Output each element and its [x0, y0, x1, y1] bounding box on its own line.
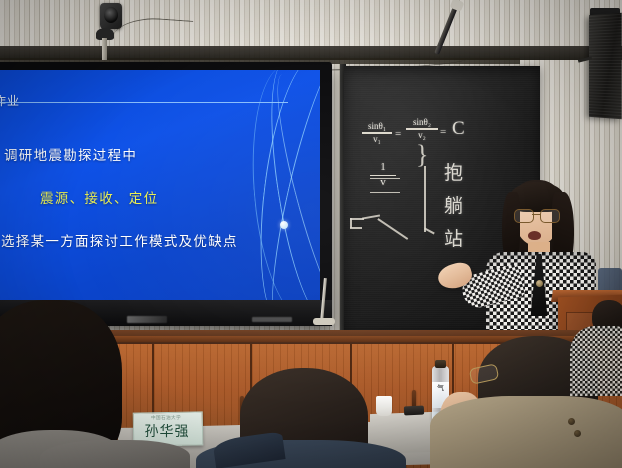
slide-divider-rule [0, 102, 288, 103]
chalk-equals-2: = [440, 126, 446, 138]
chalk-equals-1: = [395, 128, 401, 140]
chalk-fraction-3: 1 v [370, 162, 396, 188]
slide-text-line-1: 调研地震勘探过程中 [4, 144, 137, 164]
chalk-brace: } [416, 140, 428, 170]
slide-decor-curve [264, 70, 320, 306]
slide-decor-dot [280, 221, 288, 229]
glasses-lens-left [514, 209, 534, 223]
projector-screen-frame: 作业 调研地震勘探过程中 震源、接收、定位 选择某一方面探讨工作模式及优缺点 [0, 62, 332, 326]
wall-loudspeaker-icon [589, 13, 622, 119]
smartphone [404, 405, 424, 415]
chalk-vertical-stroke [424, 166, 426, 232]
slide-text-line-2: 震源、接收、定位 [40, 187, 158, 207]
slide-text-line-3: 选择某一方面探讨工作模式及优缺点 [1, 230, 238, 250]
screen-badge [252, 317, 292, 322]
glasses-lens-right [540, 209, 560, 223]
bottle-label-text: 气 [434, 384, 447, 392]
chalk-diagram-bottom [350, 227, 362, 229]
slide-decor-curve [248, 70, 320, 306]
chalk-constant: C [452, 118, 465, 140]
projector-screen: 作业 调研地震勘探过程中 震源、接收、定位 选择某一方面探讨工作模式及优缺点 [0, 70, 320, 306]
audience-far-right-jacket [570, 326, 622, 396]
glasses-bridge [532, 214, 540, 215]
chalk-fraction-2: sinθ₂ v₂ [406, 118, 438, 140]
presenter-glasses-icon [514, 209, 560, 221]
chalk-line [370, 192, 400, 193]
speaker-grill [589, 13, 622, 119]
lecture-hall-photo: 作业 调研地震勘探过程中 震源、接收、定位 选择某一方面探讨工作模式及优缺点 s… [0, 0, 622, 468]
slide-decor-curve [257, 70, 320, 306]
chalk-fraction-1: sinθ₁ v₁ [362, 122, 392, 144]
screen-brand-logo [127, 316, 167, 323]
name-card-name: 孙华强 [133, 421, 201, 441]
camera-lens-icon [104, 7, 118, 23]
slide-corner-label: 作业 [0, 92, 20, 109]
slide-decor-curve [258, 70, 320, 306]
chalk-line [370, 178, 400, 179]
audience-bottom-left [40, 440, 190, 468]
paper-cup [376, 396, 392, 416]
chalk-diagram-ray [378, 218, 409, 239]
presenter-mouth [528, 231, 541, 240]
desk-microphone-base [313, 318, 335, 325]
slide-decor-curve [243, 70, 320, 306]
chalk-hook [424, 228, 434, 235]
presenter-jacket-button [536, 280, 543, 287]
camera-pole [102, 38, 107, 60]
audience-front-right-jacket [430, 396, 622, 468]
audience-jacket-button [574, 430, 581, 437]
audience-jacket-button [568, 418, 575, 425]
bottle-cap [435, 360, 446, 368]
